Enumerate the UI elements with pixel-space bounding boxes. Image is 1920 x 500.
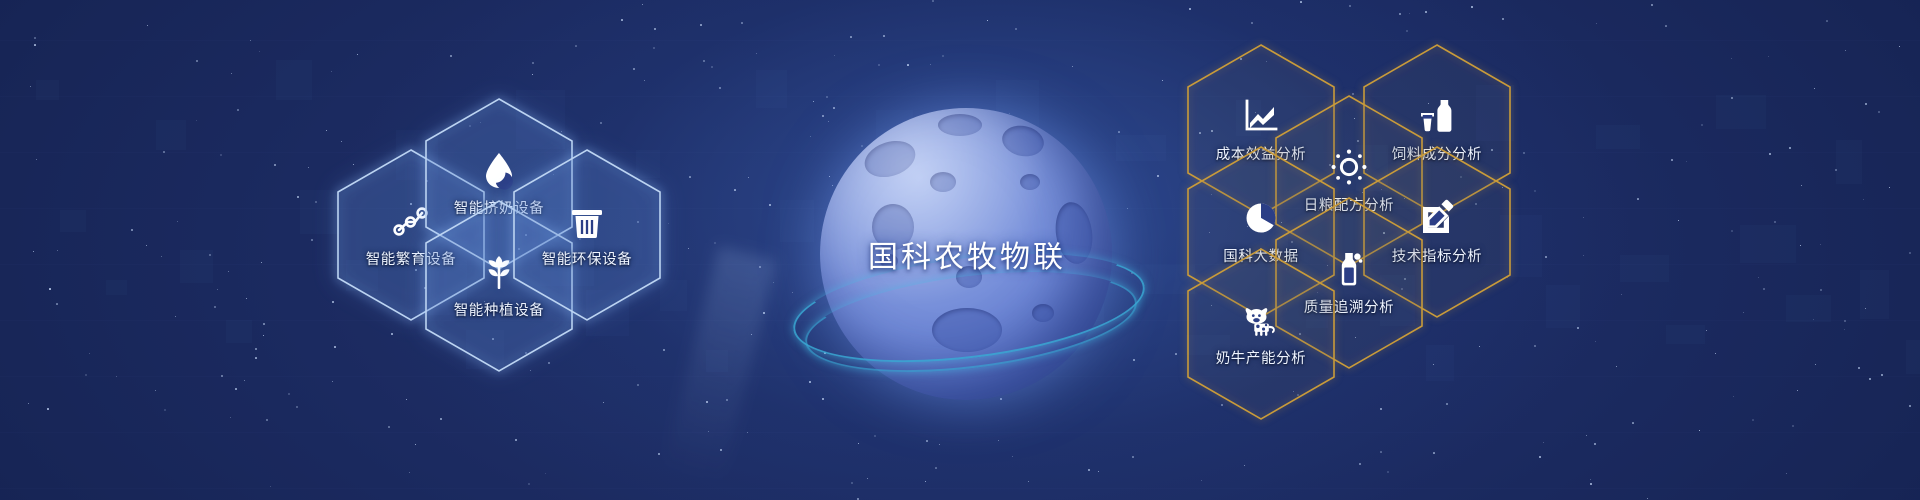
infographic-banner: 智能繁育设备智能挤奶设备智能种植设备智能环保设备 国科农牧物联 成本效益分析饲料… xyxy=(0,0,1920,500)
left-hex-3[interactable]: 智能环保设备 xyxy=(511,147,663,323)
right-hex-6[interactable]: 奶牛产能分析 xyxy=(1185,246,1337,422)
central-planet-group: 国科农牧物联 xyxy=(792,108,1142,408)
trash-bin-icon xyxy=(567,201,607,241)
page-title: 国科农牧物联 xyxy=(792,108,1142,400)
right-hex-label: 奶牛产能分析 xyxy=(1216,347,1307,368)
left-hex-label: 智能环保设备 xyxy=(542,248,633,269)
cow-icon xyxy=(1241,300,1281,340)
